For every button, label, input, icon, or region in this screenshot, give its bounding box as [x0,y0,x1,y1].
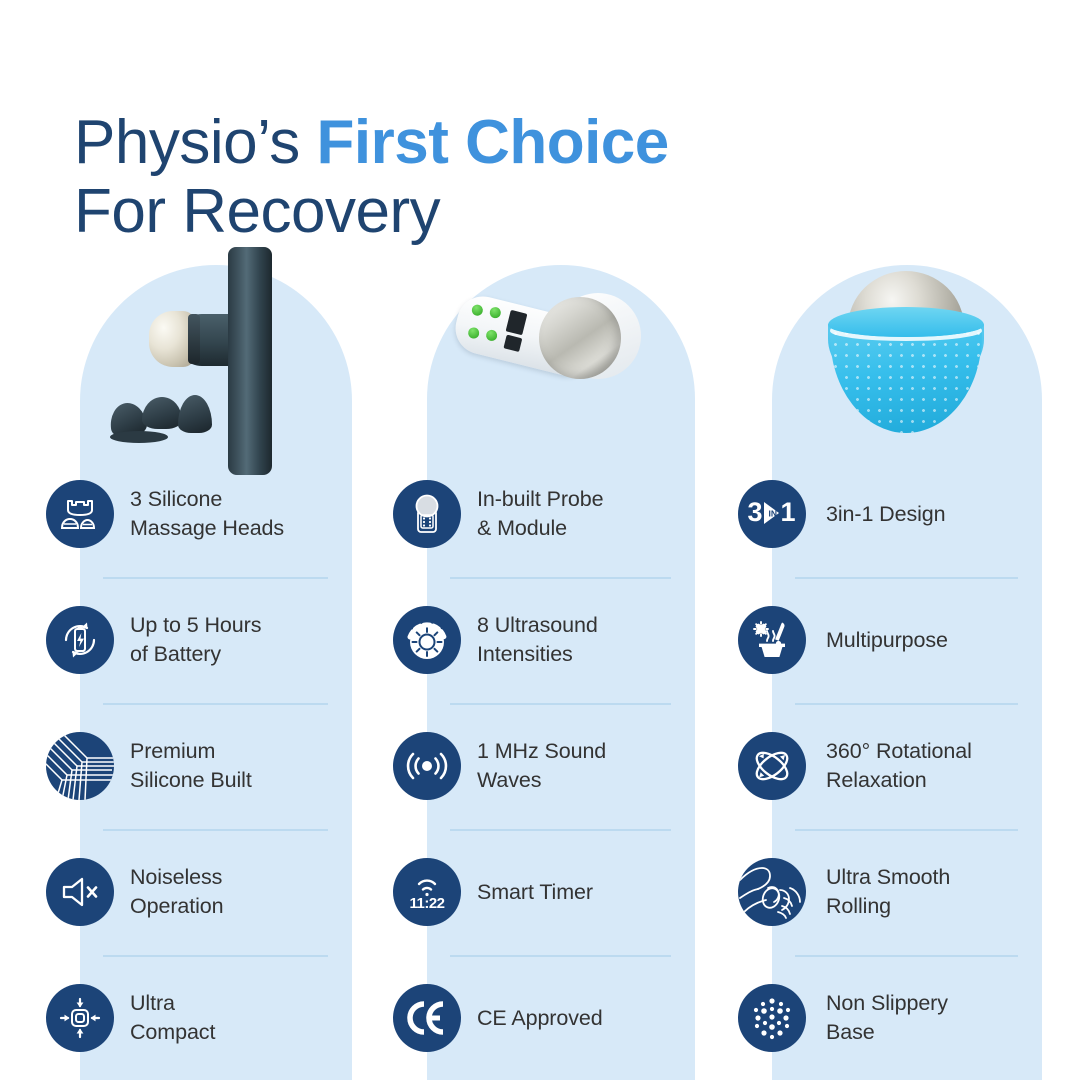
divider [450,829,671,831]
feature-label: 3in-1 Design [826,500,946,529]
silicone-massage-heads-icon [46,480,114,548]
feature-item: Non Slippery Base [772,955,1042,1081]
smart-timer-icon: 11:22 [393,858,461,926]
feature-item: Multipurpose [772,577,1042,703]
sound-waves-icon [393,732,461,800]
feature-item: 1 MHz Sound Waves [427,703,695,829]
feature-label: Ultra Compact [130,989,215,1046]
product-image-roller [772,265,1042,465]
attachment-head-2 [142,397,182,429]
feature-item: Noiseless Operation [80,829,352,955]
product-image-ultrasound: US 111 [427,265,695,465]
feature-item: Up to 5 Hours of Battery [80,577,352,703]
product-image-massage-gun [80,265,352,465]
column-massage-gun: 3 Silicone Massage Heads [80,265,352,1080]
feature-item: 8 8 Ultrasound Intensities [427,577,695,703]
divider [103,577,328,579]
gun-massage-head [149,311,195,367]
compact-arrows-icon [46,984,114,1052]
feature-list: 3 IN 1 3in-1 Design [772,451,1042,1081]
attachment-head-3 [178,395,212,433]
battery-recharge-icon [46,606,114,674]
divider [795,703,1018,705]
column-roller: 3 IN 1 3in-1 Design [772,265,1042,1080]
feature-item: 3 IN 1 3in-1 Design [772,451,1042,577]
divider [450,703,671,705]
feature-item: 360° Rotational Relaxation [772,703,1042,829]
feature-label: 1 MHz Sound Waves [477,737,606,794]
feature-label: Non Slippery Base [826,989,948,1046]
divider [103,955,328,957]
infographic-stage: Physio’s First Choice For Recovery [0,0,1080,1080]
in-text: IN [769,509,778,519]
mute-speaker-icon [46,858,114,926]
divider [103,703,328,705]
feature-list: In-built Probe & Module 8 [427,451,695,1081]
device-button [471,304,484,317]
device-button [467,326,480,339]
device-button [489,306,502,319]
feature-label: Multipurpose [826,626,948,655]
divider [450,955,671,957]
one-text: 1 [780,497,795,527]
device-probe-disc [539,297,621,379]
ce-mark-icon [393,984,461,1052]
feature-item: 11:22 Smart Timer [427,829,695,955]
feature-label: 8 Ultrasound Intensities [477,611,598,668]
hot-cold-icon [738,606,806,674]
probe-module-icon [393,480,461,548]
feature-item: CE Approved [427,955,695,1081]
attachment-base [110,431,168,443]
divider [795,577,1018,579]
feature-item: Premium Silicone Built [80,703,352,829]
device-display [503,335,522,352]
feature-label: 360° Rotational Relaxation [826,737,972,794]
feature-label: 3 Silicone Massage Heads [130,485,284,542]
feature-label: Up to 5 Hours of Battery [130,611,261,668]
feature-label: CE Approved [477,1004,603,1033]
divider [103,829,328,831]
device-button [485,329,498,342]
feature-label: Ultra Smooth Rolling [826,863,950,920]
rotation-360-icon [738,732,806,800]
feature-columns: 3 Silicone Massage Heads [0,0,1080,1080]
column-ultrasound: US 111 [427,265,695,1080]
smooth-rolling-hand-icon [738,858,806,926]
three-in-one-icon: 3 IN 1 [738,480,806,548]
timer-display-text: 11:22 [409,895,444,912]
silicone-texture-icon [46,732,114,800]
feature-item: Ultra Smooth Rolling [772,829,1042,955]
divider [450,577,671,579]
feature-item: Ultra Compact [80,955,352,1081]
roller-ring [828,307,984,337]
feature-item: 3 Silicone Massage Heads [80,451,352,577]
device-display [506,310,528,335]
non-slip-dots-icon [738,984,806,1052]
divider [795,955,1018,957]
feature-label: Smart Timer [477,878,593,907]
gun-handle [228,247,272,475]
feature-label: Noiseless Operation [130,863,224,920]
divider [795,829,1018,831]
feature-label: In-built Probe & Module [477,485,603,542]
feature-list: 3 Silicone Massage Heads [80,451,352,1081]
three-text: 3 [747,497,762,527]
feature-label: Premium Silicone Built [130,737,252,794]
intensity-dial-8-icon: 8 [393,606,461,674]
svg-text:8: 8 [424,638,430,649]
feature-item: In-built Probe & Module [427,451,695,577]
